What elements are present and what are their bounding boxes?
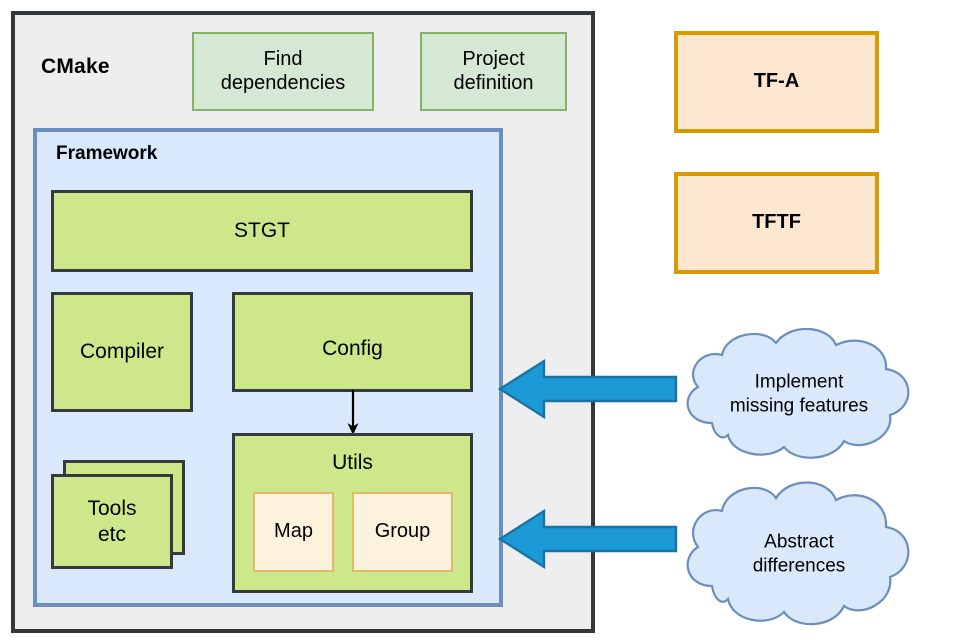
tf-a-box[interactable]: TF-A bbox=[674, 31, 879, 133]
group-box[interactable]: Group bbox=[352, 492, 453, 572]
abstract-differences-arrow-icon bbox=[498, 505, 678, 573]
tftf-box[interactable]: TFTF bbox=[674, 172, 879, 274]
callout-abstract-differences[interactable]: Abstract differences bbox=[672, 478, 926, 630]
cloud-shape-icon bbox=[672, 325, 926, 463]
config-box[interactable]: Config bbox=[232, 292, 473, 392]
tools-etc-label: Tools etc bbox=[51, 474, 173, 569]
tools-etc-box[interactable]: Tools etc bbox=[51, 460, 185, 570]
map-box[interactable]: Map bbox=[253, 492, 334, 572]
implement-missing-features-arrow-icon bbox=[498, 355, 678, 423]
diagram-canvas: CMake Find dependencies Project definiti… bbox=[0, 0, 964, 644]
stgt-box[interactable]: STGT bbox=[51, 190, 473, 272]
compiler-box[interactable]: Compiler bbox=[51, 292, 193, 412]
find-dependencies-box[interactable]: Find dependencies bbox=[192, 32, 374, 111]
project-definition-box[interactable]: Project definition bbox=[420, 32, 567, 111]
cmake-label: CMake bbox=[41, 55, 110, 80]
config-to-utils-arrow-icon bbox=[343, 390, 363, 436]
callout-implement-missing-features[interactable]: Implement missing features bbox=[672, 325, 926, 463]
framework-label: Framework bbox=[56, 143, 157, 165]
cloud-shape-icon bbox=[672, 478, 926, 630]
